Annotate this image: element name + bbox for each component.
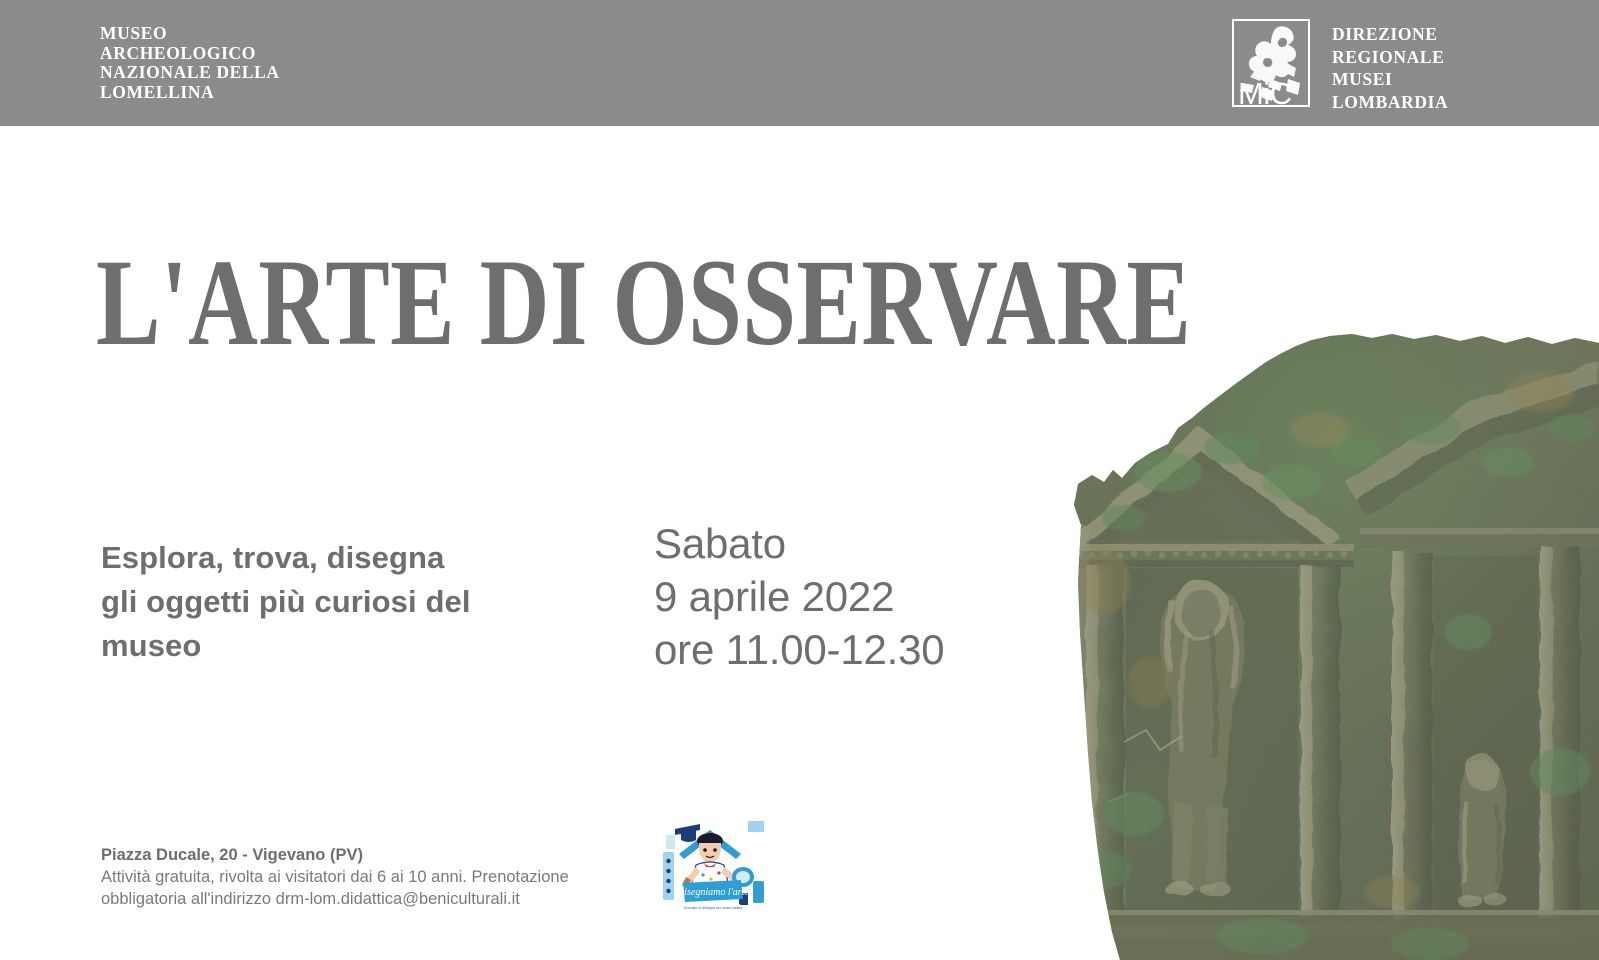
ministry-line-2: REGIONALE [1332,46,1448,69]
event-datetime: Sabato 9 aprile 2022 ore 11.00-12.30 [654,517,944,676]
museum-logo-line-4: LOMELLINA [100,83,280,103]
ministry-line-4: LOMBARDIA [1332,91,1448,114]
event-time: ore 11.00-12.30 [654,623,944,676]
ministry-logo-block: MiC DIREZIONE REGIONALE MUSEI LOMBARDIA [1232,19,1448,113]
museum-logo-line-2: ARCHEOLOGICO [100,44,280,64]
booking-note-line-2: obbligatoria all'indirizzo drm-lom.didat… [101,888,621,910]
subtitle-line-1: Esplora, trova, disegna [101,536,571,580]
artifact-photo [1000,332,1599,960]
subtitle-line-2: gli oggetti più curiosi del [101,580,571,624]
badge-tagline-text: Giornate di disegno nei musei italiani [684,906,743,910]
museum-logo-line-3: NAZIONALE DELLA [100,63,280,83]
museum-logo: MUSEO ARCHEOLOGICO NAZIONALE DELLA LOMEL… [100,24,280,102]
disegniamo-larte-logo: Disegniamo l'arte Giornate di disegno ne… [653,797,768,912]
mic-wordmark: MiC [1238,78,1292,107]
ministry-line-1: DIREZIONE [1332,23,1448,46]
ministry-line-3: MUSEI [1332,68,1448,91]
header-band: MUSEO ARCHEOLOGICO NAZIONALE DELLA LOMEL… [0,0,1599,126]
ministry-logo-text: DIREZIONE REGIONALE MUSEI LOMBARDIA [1332,19,1448,113]
mic-emblem-icon: MiC [1232,19,1310,107]
booking-note-line-1: Attività gratuita, rivolta ai visitatori… [101,866,621,888]
booking-note: Attività gratuita, rivolta ai visitatori… [101,866,621,910]
museum-logo-line-1: MUSEO [100,24,280,44]
poster-canvas: MUSEO ARCHEOLOGICO NAZIONALE DELLA LOMEL… [0,0,1599,960]
venue-address: Piazza Ducale, 20 - Vigevano (PV) [101,845,363,866]
subtitle: Esplora, trova, disegna gli oggetti più … [101,536,571,668]
badge-name-text: Disegniamo l'arte [676,887,749,898]
event-date: 9 aprile 2022 [654,570,944,623]
subtitle-line-3: museo [101,624,571,668]
event-day: Sabato [654,517,944,570]
